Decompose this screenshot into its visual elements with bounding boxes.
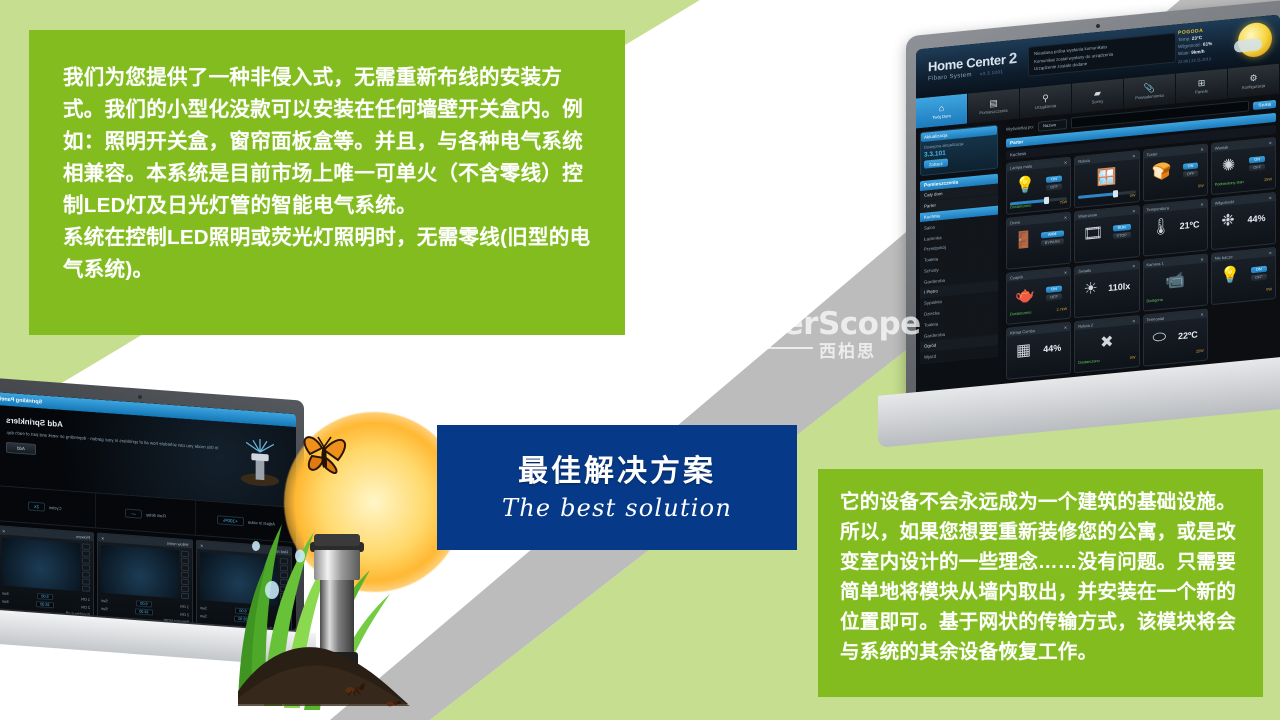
schedule-time: 18:30: [135, 608, 153, 615]
tab-label-3: Sceny: [1092, 98, 1104, 104]
device-icon: ⚲: [1042, 93, 1049, 104]
filter-select[interactable]: Nazwa: [1038, 119, 1067, 132]
best-solution-box: 最佳解决方案 The best solution: [437, 425, 797, 550]
device-buttons: ONOFF: [1251, 265, 1267, 281]
device-name: Światło: [1078, 267, 1091, 273]
rooms-list: Cały domParterKuchniaSalonŁazienkaPrzedp…: [920, 184, 998, 364]
device-value: 44%: [1248, 212, 1266, 224]
device-value: 22ºC: [1178, 329, 1198, 341]
tab-label-0: Twój Dom: [932, 113, 951, 120]
device-buttons: ONOFF: [1046, 175, 1062, 191]
device-on-button[interactable]: RUN: [1113, 223, 1131, 231]
lux-icon: ☀: [1083, 280, 1097, 299]
tab-label-6: Konfiguracja: [1242, 83, 1265, 90]
device-tile[interactable]: Temperatura✕🌡21ºC: [1143, 198, 1208, 256]
schedule-time: 18:30: [36, 601, 54, 608]
bulb-icon: 💡: [1015, 176, 1035, 196]
scene-icon: ▰: [1094, 88, 1101, 99]
close-icon[interactable]: ✕: [1200, 256, 1203, 261]
sprinkler-zone[interactable]: Flowers✕1 ON6:00Sun2 ON18:30SunSprinkler…: [0, 525, 94, 620]
schedule-label: 2 ON: [81, 605, 90, 610]
card-top-left: 我们为您提供了一种非侵入式，无需重新布线的安装方式。我们的小型化没款可以安装在任…: [29, 30, 625, 335]
schedule-label: 1 ON: [180, 605, 189, 610]
device-name: Toster: [1147, 151, 1158, 157]
device-off-button[interactable]: OFF: [1183, 170, 1199, 178]
thermostat-icon: ⬭: [1152, 328, 1166, 347]
device-tile[interactable]: Czajnik✕🫖ONOFFDostarczono2.7kW: [1006, 267, 1071, 325]
schedule-day: Sun: [200, 606, 207, 610]
gear-icon: ⚙: [1249, 73, 1257, 84]
hc2-weather-widget: POGODA Temp: 23°C Wilgotność: 61% Wiatr:…: [1178, 21, 1274, 70]
device-off-button[interactable]: BYPASS: [1041, 238, 1064, 246]
device-tile[interactable]: Kamera 1✕📹Dostępna: [1143, 253, 1208, 311]
device-tile[interactable]: Nie bacze✕💡ONOFF0W: [1211, 247, 1276, 305]
device-tile[interactable]: Roleta✕🪟0W: [1074, 150, 1139, 208]
search-button[interactable]: Szukaj: [1253, 99, 1276, 109]
device-tile[interactable]: Drzwi✕🚪ARMBYPASS: [1006, 212, 1071, 270]
zone-rail-toggles[interactable]: [82, 543, 90, 592]
device-tile[interactable]: Roleta 2✕✖Dostarczono0W: [1074, 315, 1139, 373]
device-on-button[interactable]: ON: [1183, 162, 1199, 170]
close-icon[interactable]: ✕: [1132, 153, 1135, 158]
close-icon[interactable]: ✕: [1064, 159, 1067, 164]
control-rain-delay[interactable]: Rain delay—: [95, 493, 196, 534]
device-tile[interactable]: Toster✕🍞ONOFF0W: [1143, 143, 1208, 201]
schedule-label: 1 ON: [81, 597, 90, 602]
zone-rail-toggles[interactable]: [181, 551, 189, 600]
close-icon[interactable]: ✕: [1064, 324, 1067, 329]
hc2-logo: Home Center 2 Fibaro Systemv3.3.1001: [928, 50, 1017, 83]
close-icon[interactable]: ✕: [1200, 146, 1203, 151]
tab-label-2: Urządzenia: [1035, 103, 1056, 110]
card-bottom-right: 它的设备不会永远成为一个建筑的基础设施。所以，如果您想要重新装修您的公寓，或是改…: [818, 469, 1263, 697]
device-on-button[interactable]: ON: [1046, 285, 1062, 293]
device-power: 0W: [1130, 193, 1136, 198]
garden-illustration: [238, 404, 448, 720]
thermometer-icon: 🌡: [1151, 217, 1171, 237]
device-name: Roleta: [1078, 157, 1090, 163]
tab-label-5: Panele: [1195, 88, 1208, 94]
zone-thumbnail: [101, 545, 179, 599]
device-on-button[interactable]: ON: [1249, 155, 1265, 163]
device-power: 0W: [1266, 287, 1272, 292]
device-off-button[interactable]: OFF: [1249, 163, 1265, 171]
toaster-icon: 🍞: [1152, 162, 1172, 182]
close-icon[interactable]: ✕: [1200, 311, 1203, 316]
device-tile[interactable]: Wietrzenie✕🎞RUNSTOP: [1074, 205, 1139, 263]
device-tile[interactable]: Lampa mała✕💡ONOFFDostarczono75W: [1006, 157, 1071, 215]
webcam-icon: [138, 395, 142, 399]
fan-icon: ✺: [1222, 156, 1235, 175]
close-icon[interactable]: ✕: [1269, 195, 1272, 200]
close-icon[interactable]: ✕: [1269, 140, 1272, 145]
zone-name: Yellow roses: [167, 540, 189, 547]
camera-icon: 📹: [1165, 271, 1185, 291]
device-power: 75W: [1059, 200, 1067, 205]
device-status: Dostępna: [1147, 298, 1163, 304]
close-icon[interactable]: ✕: [1064, 269, 1067, 274]
control-cycles-value: 2x: [28, 501, 45, 511]
device-on-button[interactable]: ON: [1251, 265, 1267, 273]
device-tile[interactable]: Wiatrak✕✺ONOFFPodniesiony stan25W: [1211, 137, 1276, 195]
hc2-body: Aktualizacja Dostępna aktualizacja: 3.3.…: [916, 93, 1280, 397]
device-buttons: ONOFF: [1249, 155, 1265, 171]
device-value: 21ºC: [1180, 219, 1200, 231]
device-buttons: ONOFF: [1183, 162, 1199, 178]
device-power: 25W: [1264, 177, 1272, 182]
hc2-sidebar: Aktualizacja Dostępna aktualizacja: 3.3.…: [916, 120, 1002, 397]
schedule-label: 2 ON: [180, 613, 189, 618]
sprinkler-zone[interactable]: Yellow roses✕1 ON6:00Sun2 ON18:30SunWate…: [97, 532, 193, 627]
close-icon[interactable]: ✕: [1200, 201, 1203, 206]
schedule-time: 6:00: [37, 593, 52, 600]
humidity-icon: ❉: [1221, 211, 1234, 230]
close-icon[interactable]: ✕: [200, 543, 203, 548]
close-icon[interactable]: ✕: [1132, 208, 1135, 213]
schedule-day: Sun: [2, 599, 9, 603]
panels-icon: ⊞: [1198, 78, 1206, 89]
close-icon[interactable]: ✕: [1132, 263, 1135, 268]
device-name: Czajnik: [1010, 274, 1023, 280]
schedule-time: 6:00: [136, 600, 151, 607]
close-icon[interactable]: ✕: [1064, 214, 1067, 219]
device-power: 25W: [1196, 349, 1204, 354]
device-value: 44%: [1043, 342, 1061, 354]
hc2-main-panel: Wyświetlaj po: Nazwa Szukaj Parter Kuchn…: [1002, 93, 1280, 390]
device-off-button[interactable]: OFF: [1046, 183, 1062, 191]
schedule-day: Sun: [101, 599, 108, 603]
device-name: Drzwi: [1010, 219, 1020, 225]
zone-name: Flowers: [76, 533, 90, 539]
device-grid: Lampa mała✕💡ONOFFDostarczono75WRoleta✕🪟0…: [1006, 137, 1276, 380]
weather-humidity-value: 61%: [1203, 41, 1212, 47]
device-on-button[interactable]: ON: [1046, 175, 1062, 183]
device-tile[interactable]: Klimat Combo✕▦44%: [1006, 322, 1071, 380]
card-top-left-text: 我们为您提供了一种非侵入式，无需重新布线的安装方式。我们的小型化没款可以安装在任…: [63, 62, 591, 286]
best-solution-title-en: The best solution: [502, 493, 732, 523]
control-cycles-label: Cycles: [49, 504, 62, 510]
weather-wind-value: 9km/h: [1191, 49, 1204, 55]
device-value: 110lx: [1108, 280, 1130, 292]
card-bottom-right-text: 它的设备不会永远成为一个建筑的基础设施。所以，如果您想要重新装修您的公寓，或是改…: [840, 487, 1241, 667]
device-status: Dostarczono: [1010, 310, 1031, 316]
device-name: Wiatrak: [1215, 144, 1229, 150]
blind2-icon: ✖: [1100, 333, 1113, 352]
close-icon[interactable]: ✕: [1132, 318, 1135, 323]
device-buttons: RUNSTOP: [1113, 223, 1131, 239]
device-on-button[interactable]: ARM: [1041, 230, 1064, 238]
butterfly-icon: [305, 437, 346, 473]
sprinkler-panel-label: Sprinkling Panel: [0, 396, 42, 405]
schedule-day: Sun: [2, 591, 9, 595]
hc2-version: v3.3.1001: [980, 69, 1003, 76]
close-icon[interactable]: ✕: [101, 535, 104, 540]
close-icon[interactable]: ✕: [2, 528, 5, 533]
sprinkler-add-button[interactable]: Add: [6, 442, 36, 455]
schedule-day: Sun: [200, 614, 207, 618]
hc2-logo-number: 2: [1009, 50, 1017, 68]
door-icon: 🚪: [1014, 231, 1034, 251]
laptop-home-center: Home Center 2 Fibaro Systemv3.3.1001 Nie…: [878, 18, 1280, 418]
tab-label-4: Powiadomienia: [1135, 93, 1163, 101]
home-icon: ⌂: [939, 103, 944, 114]
hc2-message-log[interactable]: Nieudana próba wysłania komunikatu Komun…: [1028, 32, 1176, 76]
rooms-icon: ▤: [989, 98, 998, 109]
control-rain-value: —: [125, 508, 142, 518]
lamp-icon: 💡: [1220, 266, 1240, 286]
device-tile[interactable]: Światło✕☀110lx: [1074, 260, 1139, 318]
panel-icon: ▦: [1016, 341, 1031, 360]
device-off-button[interactable]: STOP: [1113, 231, 1131, 239]
filter-label: Wyświetlaj po:: [1006, 124, 1034, 132]
device-off-button[interactable]: OFF: [1046, 293, 1062, 301]
weather-wind-label: Wiatr:: [1178, 50, 1190, 56]
device-power: 2.7kW: [1056, 307, 1067, 312]
update-panel: Aktualizacja Dostępna aktualizacja: 3.3.…: [920, 125, 998, 177]
device-name: Roleta 2: [1078, 322, 1093, 328]
close-icon[interactable]: ✕: [1269, 250, 1272, 255]
clip-icon: 📎: [1144, 83, 1155, 94]
control-rain-label: Rain delay: [146, 512, 166, 518]
device-power: 0W: [1198, 184, 1204, 189]
blind-icon: 🪟: [1097, 168, 1117, 188]
tab-label-1: Pomieszczenia: [979, 108, 1007, 116]
device-power: 0W: [1130, 355, 1136, 360]
curtain-icon: 🎞: [1083, 224, 1103, 244]
laptop-screen-bezel: Home Center 2 Fibaro Systemv3.3.1001 Nie…: [916, 14, 1280, 397]
device-buttons: ARMBYPASS: [1041, 230, 1064, 246]
device-tile[interactable]: Termostat✕⬭22ºC25W: [1143, 308, 1208, 366]
slide-canvas: Home Center 2 Fibaro Systemv3.3.1001 Nie…: [0, 0, 1280, 720]
device-status: Dostarczono: [1078, 359, 1099, 365]
update-view-button[interactable]: Zobacz: [924, 158, 948, 168]
best-solution-title-cn: 最佳解决方案: [518, 453, 716, 491]
kettle-icon: 🫖: [1015, 286, 1035, 306]
home-center-app: Home Center 2 Fibaro Systemv3.3.1001 Nie…: [916, 14, 1280, 397]
device-tile[interactable]: Wilgotność✕❉44%: [1211, 192, 1276, 250]
device-buttons: ONOFF: [1046, 285, 1062, 301]
device-off-button[interactable]: OFF: [1251, 273, 1267, 281]
zone-thumbnail: [2, 537, 80, 591]
control-cycles[interactable]: Cycles2x: [0, 486, 95, 527]
garden-artwork: [238, 404, 448, 720]
schedule-day: Sun: [101, 607, 108, 611]
